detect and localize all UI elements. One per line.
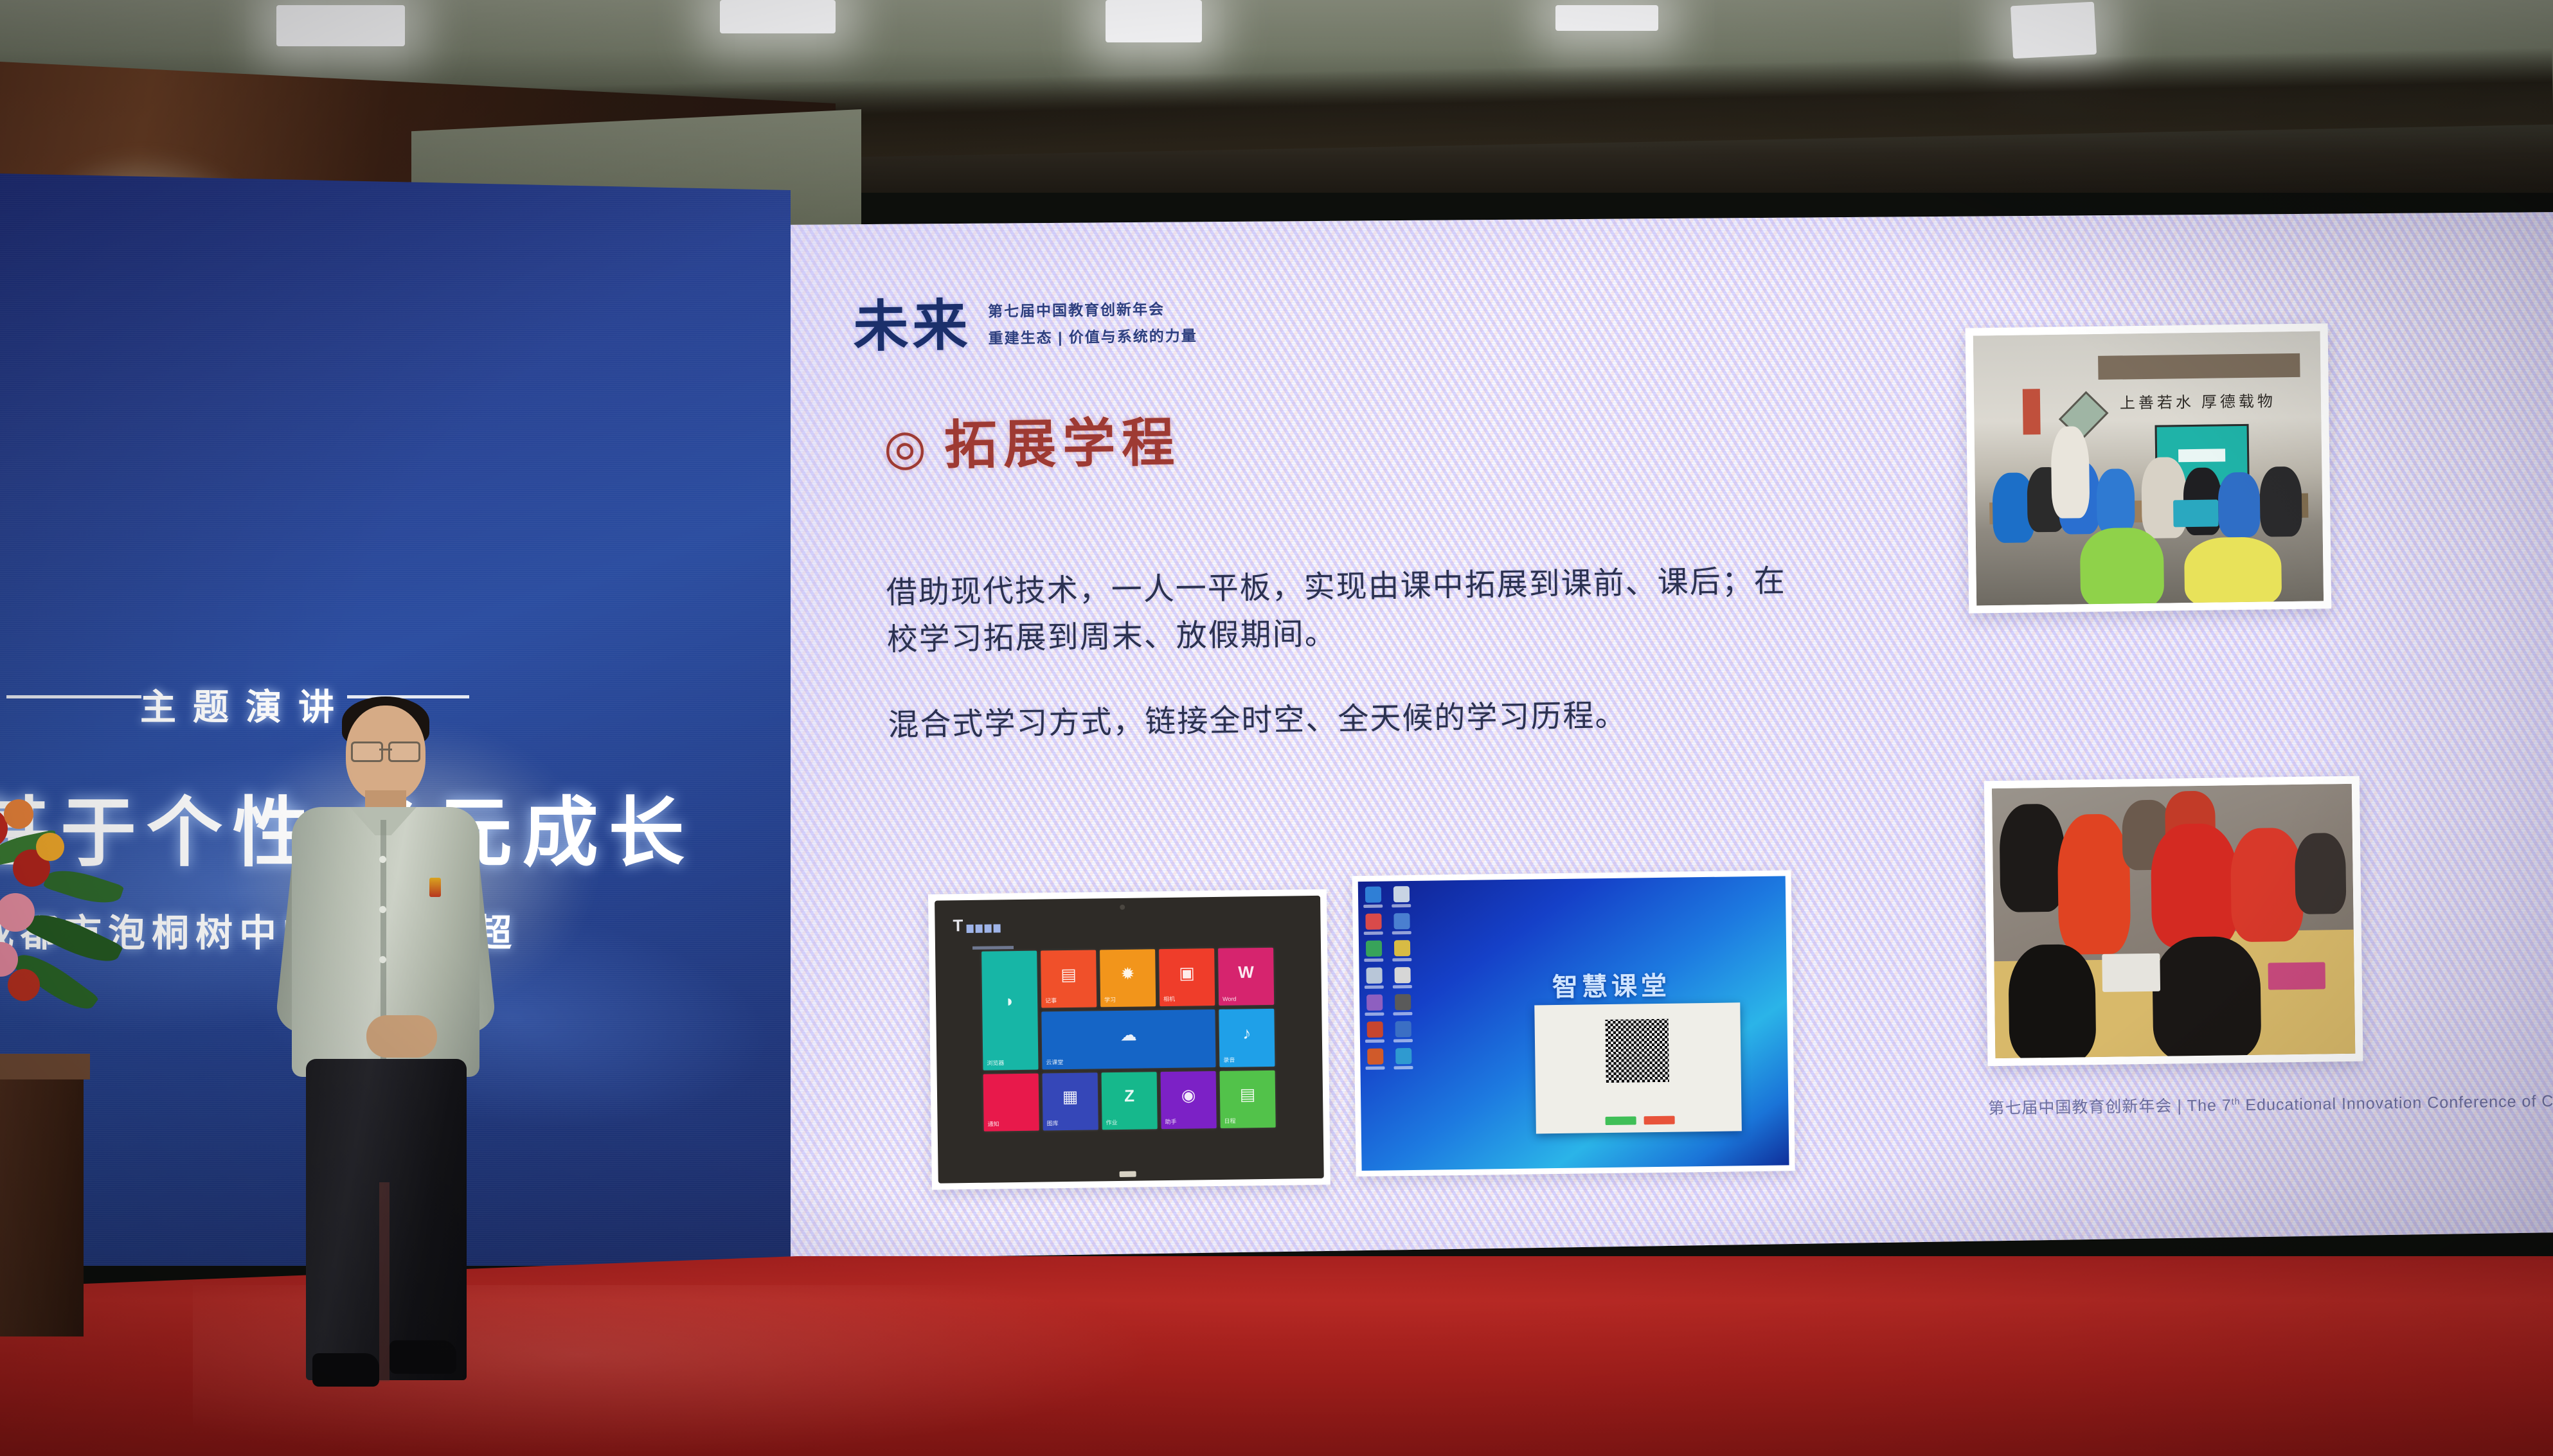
desktop-icon-label	[1364, 932, 1383, 935]
red-wall-banner	[2022, 389, 2040, 435]
shirt-button	[379, 856, 386, 863]
desktop-icon-label	[1393, 1066, 1413, 1069]
desktop-icon[interactable]	[1364, 968, 1383, 991]
desktop-icon-glyph	[1393, 886, 1409, 902]
footer-divider: |	[2177, 1097, 2182, 1115]
notes-tile-label: 记事	[1045, 997, 1057, 1005]
mic-tile[interactable]: ♪录音	[1219, 1009, 1275, 1067]
desktop-icon-glyph	[1395, 1048, 1411, 1064]
teacher-figure	[2050, 426, 2090, 519]
desktop-icon[interactable]	[1392, 940, 1411, 963]
slide-body: 借助现代技术，一人一平板，实现由课中拓展到课前、课后；在校学习拓展到周末、放假期…	[886, 558, 1788, 788]
student-figure-red	[2057, 813, 2131, 955]
desktop-icon-glyph	[1395, 1021, 1411, 1037]
student-figure	[2096, 468, 2135, 534]
desktop-icon-glyph	[1365, 914, 1381, 930]
logo-subtitle-group: 第七届中国教育创新年会 重建生态 | 价值与系统的力量	[988, 290, 1197, 348]
presentation-slide: 未来 第七届中国教育创新年会 重建生态 | 价值与系统的力量 ◎拓展学程 借助现…	[768, 188, 2553, 1259]
photos-tile-label: 图库	[1047, 1119, 1059, 1127]
desktop-icon[interactable]	[1365, 995, 1384, 1018]
slide-footer: 第七届中国教育创新年会 | The 7th Educational Innova…	[1988, 1088, 2553, 1119]
desktop-icon-label	[1363, 905, 1383, 908]
conference-logo: 未来 第七届中国教育创新年会 重建生态 | 价值与系统的力量	[852, 277, 1197, 362]
speaker-shoe	[312, 1353, 379, 1387]
podium	[0, 1067, 84, 1336]
desktop-icon[interactable]	[1393, 1021, 1413, 1044]
desktop-icon-glyph	[1393, 913, 1410, 929]
photos-tile[interactable]: ▦图库	[1043, 1072, 1098, 1130]
tablet-brand-underline	[972, 946, 1014, 950]
word-tile-glyph: W	[1238, 962, 1254, 982]
classroom-scene-2	[1992, 784, 2355, 1058]
desktop-icon[interactable]	[1392, 913, 1411, 936]
footer-en-sup: th	[2232, 1096, 2241, 1106]
desktop-icon-label	[1392, 958, 1411, 961]
lapel-badge	[429, 878, 441, 897]
ceiling-light	[1106, 0, 1202, 42]
student-figure-red	[2230, 828, 2303, 942]
slide-paragraph-1: 借助现代技术，一人一平板，实现由课中拓展到课前、课后；在校学习拓展到周末、放假期…	[886, 558, 1787, 664]
desktop-icon-label	[1365, 986, 1384, 989]
calendar-tile[interactable]: ▤日程	[1220, 1070, 1276, 1128]
desktop-icon-glyph	[1366, 1022, 1383, 1038]
shirt-button	[379, 906, 386, 913]
footer-en: The 7	[2187, 1096, 2232, 1115]
browser-tile-label: 浏览器	[987, 1058, 1004, 1067]
footer-cn: 第七届中国教育创新年会	[1988, 1097, 2172, 1118]
floral-arrangement	[0, 797, 167, 1067]
desktop-icon-glyph	[1395, 994, 1411, 1010]
photos-tile-glyph: ▦	[1062, 1087, 1079, 1106]
pencil-case	[2268, 963, 2325, 990]
learn-tile-glyph: ✹	[1120, 964, 1134, 984]
word-tile[interactable]: WWord	[1218, 948, 1274, 1006]
speaker-figure	[270, 694, 501, 1388]
student-figure-foreground	[2080, 528, 2164, 605]
logo-subtitle-line2: 重建生态 | 价值与系统的力量	[988, 323, 1197, 348]
camera-tile-glyph: ▣	[1179, 963, 1195, 982]
desktop-icon-label	[1393, 1039, 1413, 1042]
desktop-icon-glyph	[1394, 967, 1410, 983]
qr-login-dialog[interactable]	[1534, 1002, 1742, 1133]
tablet-home-button[interactable]	[1120, 1171, 1136, 1177]
cloud-tile[interactable]: ☁云课堂	[1041, 1009, 1215, 1069]
circle-marker-icon: ◎	[883, 421, 933, 475]
student-figure	[2008, 944, 2096, 1058]
keynote-rule-left	[6, 695, 141, 698]
learn-tile-label: 学习	[1104, 995, 1116, 1004]
notes-tile[interactable]: ▤记事	[1041, 950, 1097, 1008]
wall-calligraphy: 上善若水 厚德载物	[2120, 389, 2276, 413]
cloud-tile-label: 云课堂	[1046, 1058, 1063, 1066]
ceiling-light	[1555, 5, 1658, 31]
desktop-icon-label	[1365, 1013, 1384, 1016]
mic-tile-label: 录音	[1223, 1055, 1235, 1063]
student-figure	[2218, 472, 2261, 538]
assistant-tile[interactable]: ◉助手	[1161, 1071, 1217, 1129]
desktop-icon-glyph	[1393, 940, 1410, 956]
desktop-icon-label	[1393, 985, 1412, 988]
desktop-icon-glyph	[1367, 1049, 1383, 1065]
desktop-icon[interactable]	[1365, 1022, 1384, 1045]
classroom-photo-top: 上善若水 厚德载物	[1966, 323, 2332, 613]
student-figure	[2295, 833, 2346, 914]
flower	[8, 969, 40, 1001]
flower	[4, 799, 33, 829]
speaker-hands	[366, 1015, 437, 1058]
student-figure-foreground	[2184, 537, 2282, 605]
camera-tile-label: 相机	[1163, 995, 1175, 1003]
study-tile-label: 作业	[1106, 1118, 1118, 1126]
desktop-screenshot-card: 智慧课堂	[1352, 870, 1795, 1176]
dialog-button-row[interactable]	[1606, 1116, 1675, 1125]
cloud-tile-glyph: ☁	[1120, 1025, 1137, 1045]
logo-wordmark: 未来	[852, 280, 972, 362]
classroom-photo-top-image: 上善若水 厚德载物	[1973, 331, 2324, 605]
mic-tile-glyph: ♪	[1242, 1024, 1251, 1043]
desktop-icon-label	[1365, 1067, 1384, 1070]
desktop-icon[interactable]	[1365, 1049, 1384, 1072]
desktop-icon[interactable]	[1363, 887, 1383, 910]
desktop-icon-label	[1392, 904, 1411, 907]
classroom-photo-bottom	[1984, 776, 2363, 1067]
student-figure	[2152, 936, 2262, 1058]
ceiling-light	[720, 0, 836, 33]
desktop-icon[interactable]	[1363, 914, 1383, 937]
tablet-on-desk	[2102, 954, 2160, 992]
cancel-button[interactable]	[1644, 1116, 1675, 1125]
tablet-camera-icon	[1120, 905, 1125, 910]
tablet-screenshot-card: T ◗浏览器▤记事✹学习▣相机WWord☁云课堂♪录音通知▦图库Z作业◉助手▤日…	[928, 889, 1330, 1190]
wall-banner	[2098, 353, 2300, 380]
desktop-icon[interactable]	[1392, 886, 1411, 909]
glasses-icon	[351, 741, 420, 758]
assistant-tile-glyph: ◉	[1181, 1085, 1196, 1105]
study-tile[interactable]: Z作业	[1102, 1072, 1158, 1130]
tablet-tile-grid[interactable]: ◗浏览器▤记事✹学习▣相机WWord☁云课堂♪录音通知▦图库Z作业◉助手▤日程	[981, 948, 1276, 1132]
slide-title-text: 拓展学程	[944, 414, 1181, 475]
shirt-button	[379, 956, 386, 963]
qr-code-image	[1606, 1019, 1669, 1083]
student-figure	[2259, 466, 2302, 537]
browser-tile-glyph: ◗	[1005, 991, 1015, 1011]
camera-tile[interactable]: ▣相机	[1159, 948, 1215, 1006]
tablet-brand-chars	[966, 925, 1000, 934]
speaker-shoe	[390, 1340, 456, 1374]
footer-en-rest: Educational Innovation Conference of Chi	[2240, 1092, 2553, 1114]
foliage	[43, 862, 124, 910]
conference-stage-photo: 未来 第七届中国教育创新年会 重建生态 | 价值与系统的力量 ◎拓展学程 借助现…	[0, 0, 2553, 1456]
desktop-icon-glyph	[1365, 887, 1381, 903]
notes-tile-glyph: ▤	[1061, 964, 1077, 984]
classroom-scene: 上善若水 厚德载物	[1973, 331, 2324, 605]
desktop-icon[interactable]	[1393, 994, 1412, 1017]
student-figure	[1999, 804, 2065, 912]
alert-tile-label: 通知	[988, 1119, 999, 1128]
classroom-photo-bottom-image	[1992, 784, 2355, 1058]
smart-classroom-title: 智慧课堂	[1552, 965, 1671, 1004]
student-figure-red	[2151, 823, 2239, 948]
learn-tile[interactable]: ✹学习	[1100, 949, 1156, 1007]
ceiling-light	[2011, 2, 2097, 59]
study-tile-glyph: Z	[1124, 1086, 1134, 1106]
desktop-wallpaper: 智慧课堂	[1358, 876, 1789, 1171]
desktop-icon[interactable]	[1393, 1048, 1413, 1071]
calendar-tile-label: 日程	[1224, 1117, 1235, 1125]
slide-title: ◎拓展学程	[883, 400, 1181, 480]
flower	[36, 833, 64, 861]
calendar-tile-glyph: ▤	[1240, 1085, 1256, 1105]
alert-tile[interactable]: 通知	[983, 1073, 1039, 1131]
desktop-icon-glyph	[1365, 941, 1381, 957]
slide-paragraph-2: 混合式学习方式，链接全时空、全天候的学习历程。	[888, 691, 1788, 749]
word-tile-label: Word	[1223, 996, 1236, 1002]
confirm-button[interactable]	[1606, 1116, 1636, 1125]
desktop-icon[interactable]	[1364, 941, 1383, 964]
tablet-device: T ◗浏览器▤记事✹学习▣相机WWord☁云课堂♪录音通知▦图库Z作业◉助手▤日…	[935, 896, 1324, 1184]
browser-tile[interactable]: ◗浏览器	[981, 951, 1038, 1070]
desktop-icon-label	[1364, 959, 1383, 962]
logo-subtitle-line1: 第七届中国教育创新年会	[988, 296, 1197, 321]
desktop-icon-glyph	[1366, 995, 1383, 1011]
desktop-icon-grid[interactable]	[1363, 886, 1416, 1072]
tablet-on-desk	[2173, 500, 2219, 528]
desktop-icon-label	[1392, 931, 1411, 934]
tablet-brand-logo: T	[953, 918, 1000, 933]
desktop-icon-label	[1393, 1012, 1412, 1015]
assistant-tile-label: 助手	[1165, 1117, 1176, 1126]
desktop-icon-glyph	[1366, 968, 1382, 984]
trouser-gap	[379, 1182, 390, 1381]
ceiling-light	[276, 5, 405, 46]
desktop-icon[interactable]	[1392, 967, 1411, 990]
tablet-brand-letter: T	[953, 918, 963, 934]
desktop-icon-label	[1365, 1040, 1384, 1043]
